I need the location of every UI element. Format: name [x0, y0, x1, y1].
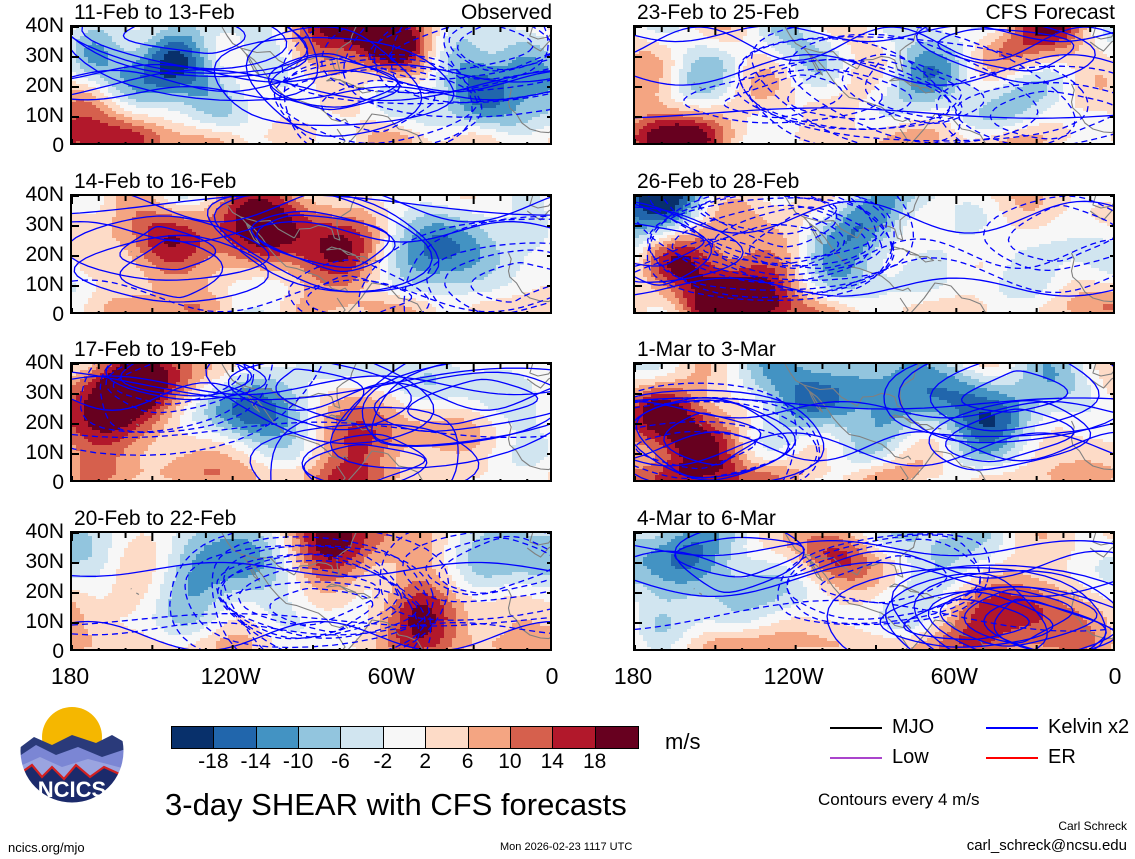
y-axis-tick-label: 40N [4, 184, 64, 205]
legend-label: MJO [892, 717, 934, 737]
column-header-observed: Observed [442, 2, 552, 23]
y-axis-tick-label: 30N [4, 214, 64, 235]
x-axis-tick-label: 120W [186, 665, 276, 688]
y-axis-tick-label: 30N [4, 551, 64, 572]
y-axis-tick-label: 10N [4, 611, 64, 632]
legend-label: Kelvin x2 [1048, 717, 1129, 737]
author-email[interactable]: carl_schreck@ncsu.edu [877, 838, 1127, 853]
colorbar-segment [469, 727, 511, 748]
colorbar-segment [214, 727, 256, 748]
x-axis-tick-label: 180 [25, 665, 115, 688]
site-url[interactable]: ncics.org/mjo [8, 841, 85, 854]
y-axis-tick-label: 40N [4, 521, 64, 542]
y-axis-tick-label: 40N [4, 15, 64, 36]
y-axis-tick-label: 30N [4, 382, 64, 403]
legend-line-low [830, 757, 882, 759]
column-header-cfs-forecast: CFS Forecast [965, 2, 1115, 23]
colorbar-segment [341, 727, 383, 748]
y-axis-tick-label: 10N [4, 105, 64, 126]
legend-label: ER [1048, 747, 1076, 767]
colorbar-segment [299, 727, 341, 748]
colorbar-segment [511, 727, 553, 748]
x-axis-tick-label: 60W [346, 665, 436, 688]
y-axis-tick-label: 20N [4, 75, 64, 96]
timestamp: Mon 2026-02-23 1117 UTC [500, 842, 632, 853]
y-axis-tick-label: 40N [4, 352, 64, 373]
x-axis-tick-label: 0 [507, 665, 597, 688]
ncics-logo[interactable]: NCICS [18, 697, 126, 805]
map-plot-area[interactable] [633, 362, 1115, 482]
x-axis-tick-label: 180 [588, 665, 678, 688]
map-plot-area[interactable] [70, 194, 552, 314]
map-plot-area[interactable] [633, 25, 1115, 145]
legend-line-er [986, 757, 1038, 759]
panel-title: 23-Feb to 25-Feb [637, 2, 799, 23]
panel-title: 14-Feb to 16-Feb [74, 171, 236, 192]
y-axis-tick-label: 20N [4, 412, 64, 433]
logo-wordmark: NCICS [38, 777, 106, 802]
y-axis-tick-label: 0 [4, 641, 64, 662]
panel-title: 1-Mar to 3-Mar [637, 339, 776, 360]
map-plot-area[interactable] [70, 531, 552, 651]
author-name: Carl Schreck [927, 820, 1127, 832]
y-axis-tick-label: 0 [4, 472, 64, 493]
panel-title: 20-Feb to 22-Feb [74, 508, 236, 529]
colorbar-segment [384, 727, 426, 748]
colorbar [171, 726, 639, 749]
y-axis-tick-label: 10N [4, 442, 64, 463]
map-plot-area[interactable] [70, 25, 552, 145]
colorbar-segment [426, 727, 468, 748]
colorbar-segment [596, 727, 638, 748]
y-axis-tick-label: 20N [4, 244, 64, 265]
colorbar-segment [553, 727, 595, 748]
y-axis-tick-label: 0 [4, 135, 64, 156]
panel-title: 4-Mar to 6-Mar [637, 508, 776, 529]
y-axis-tick-label: 10N [4, 274, 64, 295]
panel-title: 11-Feb to 13-Feb [74, 2, 235, 23]
colorbar-segment [257, 727, 299, 748]
y-axis-tick-label: 20N [4, 581, 64, 602]
legend-line-mjo [830, 727, 882, 729]
y-axis-tick-label: 30N [4, 45, 64, 66]
contour-interval-note: Contours every 4 m/s [818, 791, 980, 808]
map-plot-area[interactable] [633, 531, 1115, 651]
page-title: 3-day SHEAR with CFS forecasts [165, 789, 627, 820]
shaded-anomaly-field [72, 196, 552, 314]
colorbar-units-label: m/s [665, 731, 700, 753]
colorbar-segment [172, 727, 214, 748]
x-axis-tick-label: 120W [749, 665, 839, 688]
colorbar-tick-label: 18 [565, 751, 625, 772]
panel-title: 17-Feb to 19-Feb [74, 339, 236, 360]
x-axis-tick-label: 60W [909, 665, 999, 688]
shaded-anomaly-field [635, 533, 1115, 651]
map-plot-area[interactable] [633, 194, 1115, 314]
y-axis-tick-label: 0 [4, 304, 64, 325]
panel-title: 26-Feb to 28-Feb [637, 171, 799, 192]
map-plot-area[interactable] [70, 362, 552, 482]
x-axis-tick-label: 0 [1070, 665, 1135, 688]
legend-label: Low [892, 747, 929, 767]
legend-line-kelvin-x2 [986, 727, 1038, 729]
